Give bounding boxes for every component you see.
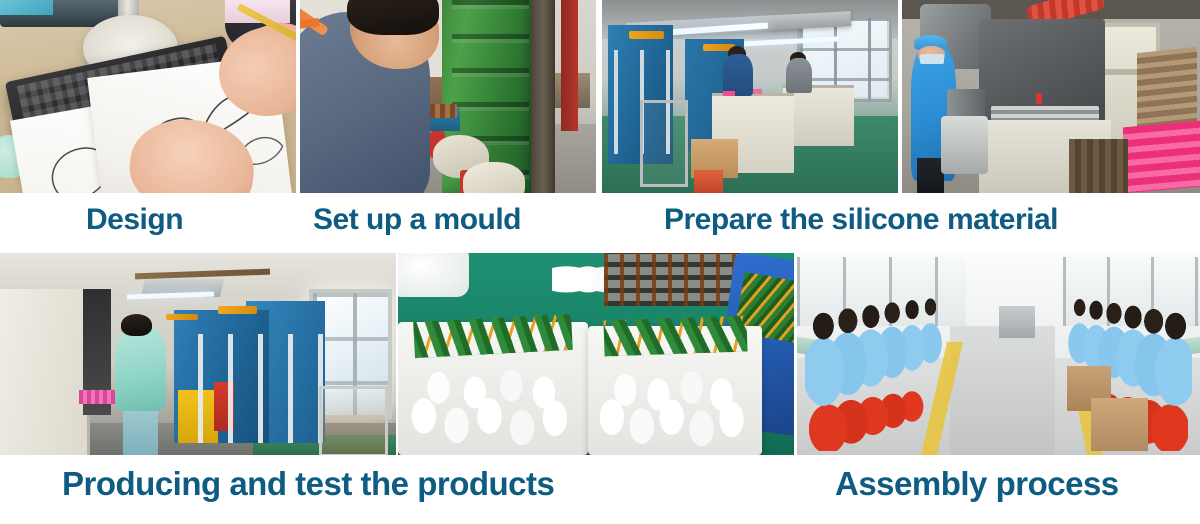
emergency-stop-button (1036, 93, 1042, 105)
press-brand-label-2 (166, 314, 198, 320)
machine-label-1 (629, 31, 665, 39)
pink-product-2 (753, 89, 762, 94)
panel-mould-image[interactable] (300, 0, 596, 193)
red-beam (561, 0, 579, 131)
worker-head (121, 314, 153, 336)
silicone-products-right (592, 338, 758, 451)
process-gallery: Design Set up a mould Prepare the silico… (0, 0, 1200, 524)
material-trolley (319, 386, 388, 455)
monitor-screen (0, 0, 53, 15)
panel-floor-image[interactable] (602, 0, 898, 193)
caption-producing: Producing and test the products (62, 465, 554, 503)
tall-cabinet (0, 289, 90, 455)
glove-right (463, 162, 525, 193)
worker-heads-right-row (1055, 289, 1192, 342)
silicone-products-left (402, 334, 584, 451)
panel-silicone-image[interactable] (902, 0, 1200, 193)
caption-design: Design (86, 203, 183, 237)
caption-silicone: Prepare the silicone material (664, 203, 1058, 237)
center-aisle (950, 326, 1055, 455)
silicone-drum (941, 116, 989, 174)
pink-crate-stack (1123, 120, 1200, 192)
panel-design-image[interactable] (0, 0, 296, 193)
worker-heads-left-row (805, 289, 958, 342)
supply-cart (999, 306, 1035, 338)
poly-bag-of-parts (398, 253, 469, 297)
cardboard-box-lower (1091, 398, 1147, 451)
worker-2-body (786, 58, 813, 93)
operator-face-mask (920, 54, 944, 64)
panel-products-image[interactable] (398, 253, 794, 455)
caption-assembly: Assembly process (835, 465, 1119, 503)
trolley-cart (640, 100, 687, 187)
worker-green-shirt (115, 326, 166, 411)
press-piston-rods (198, 334, 325, 443)
red-stool (694, 170, 724, 193)
pink-product-1 (723, 91, 735, 97)
panel-assembly-image[interactable] (797, 253, 1200, 455)
press-brand-label-1 (218, 306, 258, 314)
panel-producing-image[interactable] (0, 253, 396, 455)
stacked-boards (1069, 139, 1129, 193)
ceiling-light (127, 292, 214, 300)
steel-post (531, 0, 555, 193)
worker-hair (347, 0, 439, 35)
caption-mould: Set up a mould (313, 203, 521, 237)
operator-legs (917, 158, 944, 193)
pcb-test-rack (604, 253, 747, 306)
